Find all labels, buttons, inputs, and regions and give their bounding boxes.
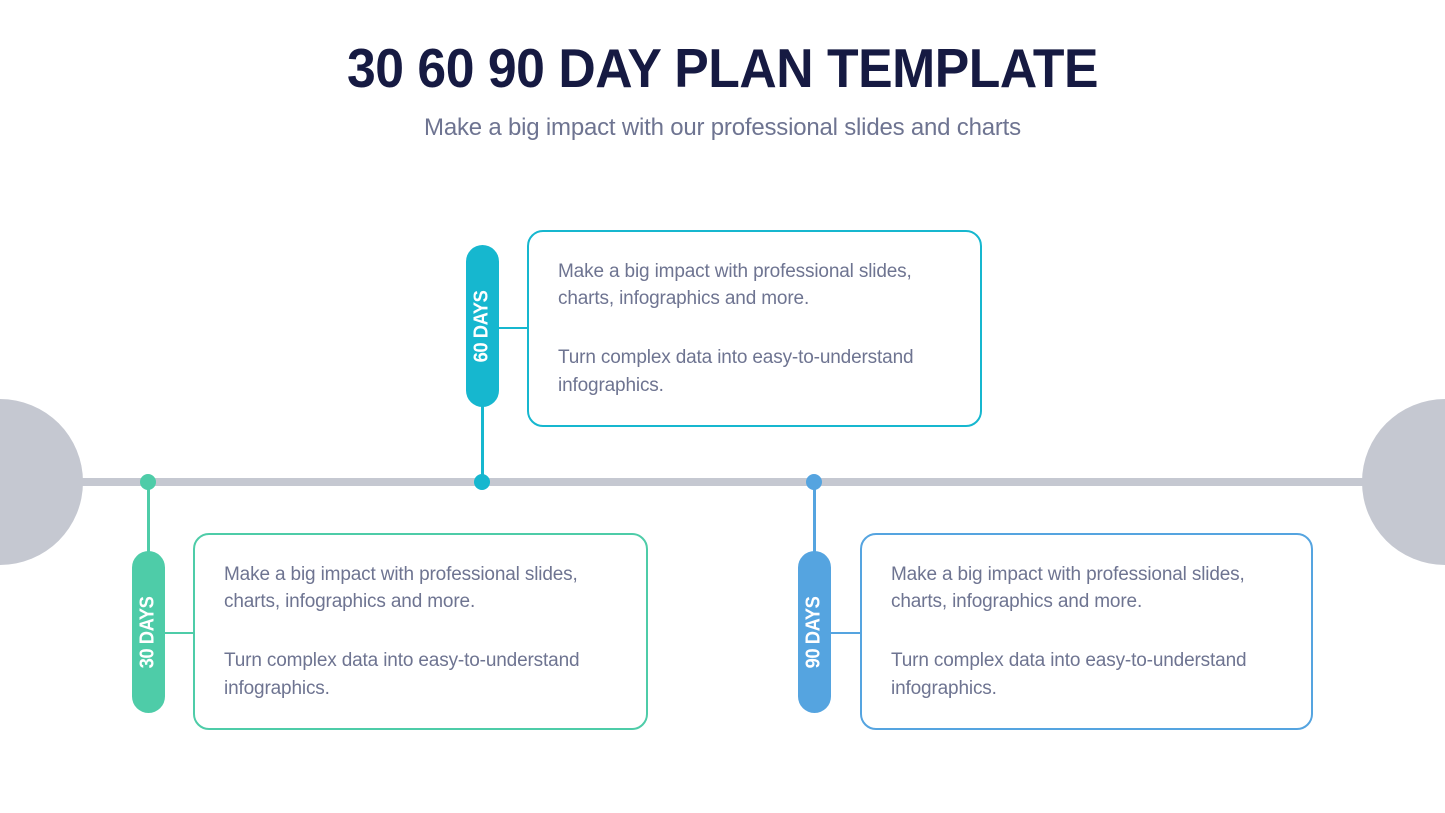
info-card-90-paragraph-1: Make a big impact with professional slid… [891, 561, 1283, 616]
day-pill-90[interactable]: 90 DAYS [798, 551, 831, 713]
slide-canvas: 30 60 90 DAY PLAN TEMPLATE Make a big im… [0, 0, 1445, 813]
day-pill-90-label: 90 DAYS [803, 596, 826, 668]
stem-60 [481, 406, 484, 484]
timeline-node-30[interactable] [140, 474, 156, 490]
info-card-90[interactable]: Make a big impact with professional slid… [860, 533, 1313, 730]
day-pill-60-label: 60 DAYS [471, 290, 494, 362]
timeline-node-90[interactable] [806, 474, 822, 490]
info-card-60[interactable]: Make a big impact with professional slid… [527, 230, 982, 427]
day-pill-60[interactable]: 60 DAYS [466, 245, 499, 407]
page-subtitle: Make a big impact with our professional … [0, 114, 1445, 142]
day-pill-30-label: 30 DAYS [137, 596, 160, 668]
info-card-30-paragraph-1: Make a big impact with professional slid… [224, 561, 618, 616]
connector-90 [830, 632, 860, 634]
info-card-30-paragraph-2: Turn complex data into easy-to-understan… [224, 647, 618, 702]
connector-60 [498, 327, 528, 329]
header: 30 60 90 DAY PLAN TEMPLATE Make a big im… [0, 40, 1445, 142]
info-card-30[interactable]: Make a big impact with professional slid… [193, 533, 648, 730]
timeline-bar [0, 478, 1445, 486]
connector-30 [164, 632, 194, 634]
page-title: 30 60 90 DAY PLAN TEMPLATE [43, 40, 1401, 98]
stem-90 [813, 482, 816, 552]
info-card-60-paragraph-2: Turn complex data into easy-to-understan… [558, 344, 952, 399]
timeline-node-60[interactable] [474, 474, 490, 490]
day-pill-30[interactable]: 30 DAYS [132, 551, 165, 713]
info-card-60-paragraph-1: Make a big impact with professional slid… [558, 258, 952, 313]
info-card-90-paragraph-2: Turn complex data into easy-to-understan… [891, 647, 1283, 702]
stem-30 [147, 482, 150, 552]
